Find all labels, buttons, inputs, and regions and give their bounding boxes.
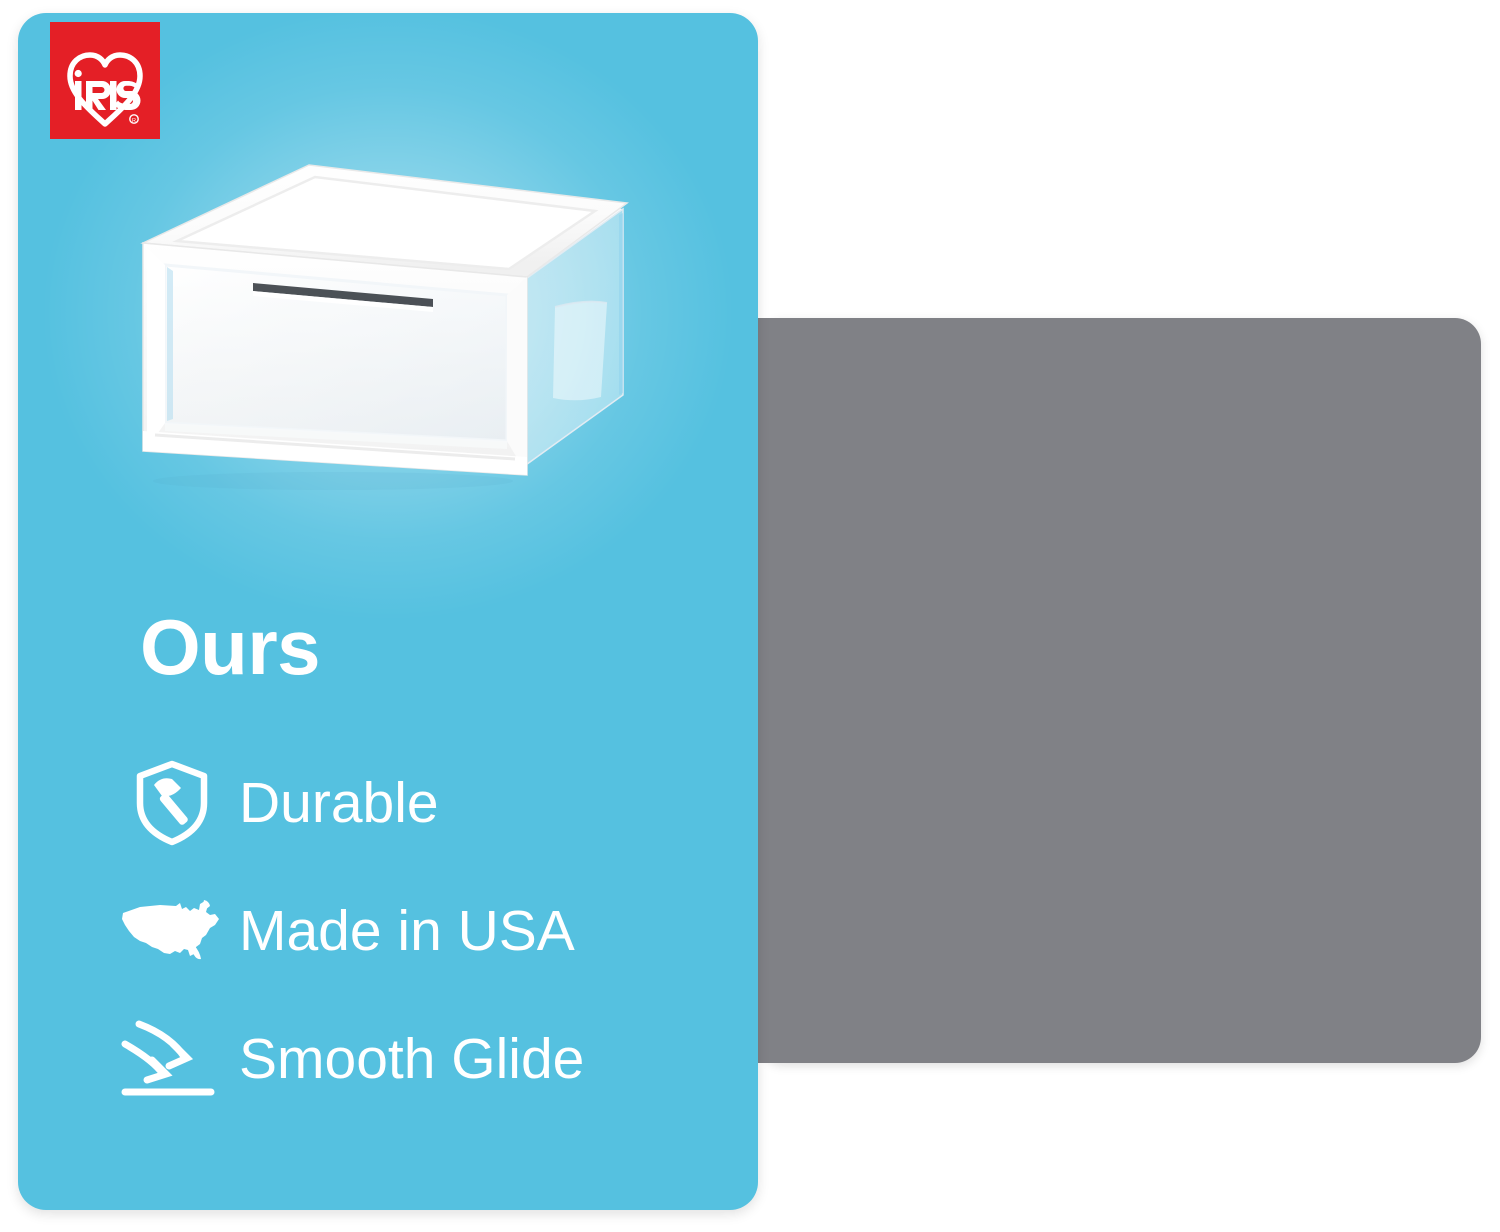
others-panel: Others Fragile [758,318,1481,1063]
ours-product-image: ove [103,131,703,561]
ours-feature-label: Made in USA [239,903,575,960]
shield-hammer-icon [113,755,231,851]
ours-heading: Ours [140,608,320,686]
ours-feature-label: Durable [239,775,439,832]
ours-panel: ove [18,13,758,1210]
comparison-infographic: Others Fragile [0,0,1500,1232]
smooth-glide-arrows-icon [113,1011,231,1107]
iris-logo: R [50,22,160,139]
ours-feature-item: Durable [113,739,713,867]
usa-map-icon [113,883,231,979]
ours-feature-list: Durable Made in USA [113,739,713,1123]
ours-feature-item: Smooth Glide [113,995,713,1123]
ours-feature-item: Made in USA [113,867,713,995]
svg-text:R: R [132,118,136,124]
ours-feature-label: Smooth Glide [239,1031,584,1088]
